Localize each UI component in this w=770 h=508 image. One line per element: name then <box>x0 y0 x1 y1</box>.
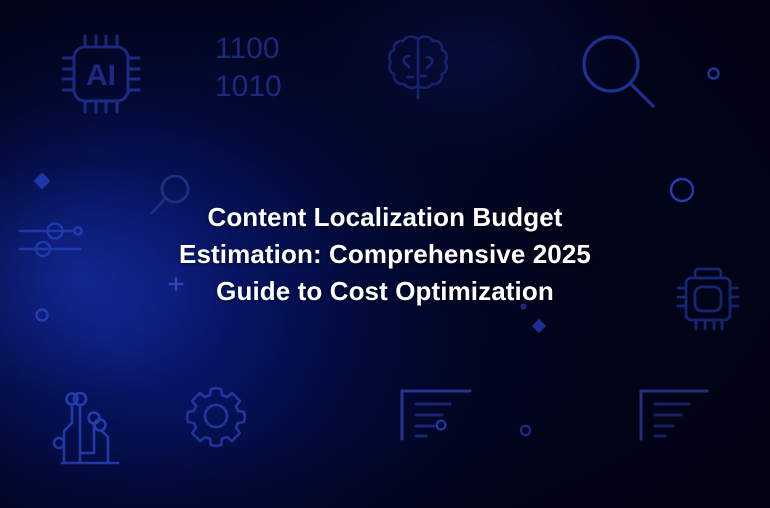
page-title: Content Localization Budget Estimation: … <box>150 199 620 310</box>
hero-banner: AI 1100 1010 <box>0 0 770 508</box>
hero-title-wrap: Content Localization Budget Estimation: … <box>0 0 770 508</box>
